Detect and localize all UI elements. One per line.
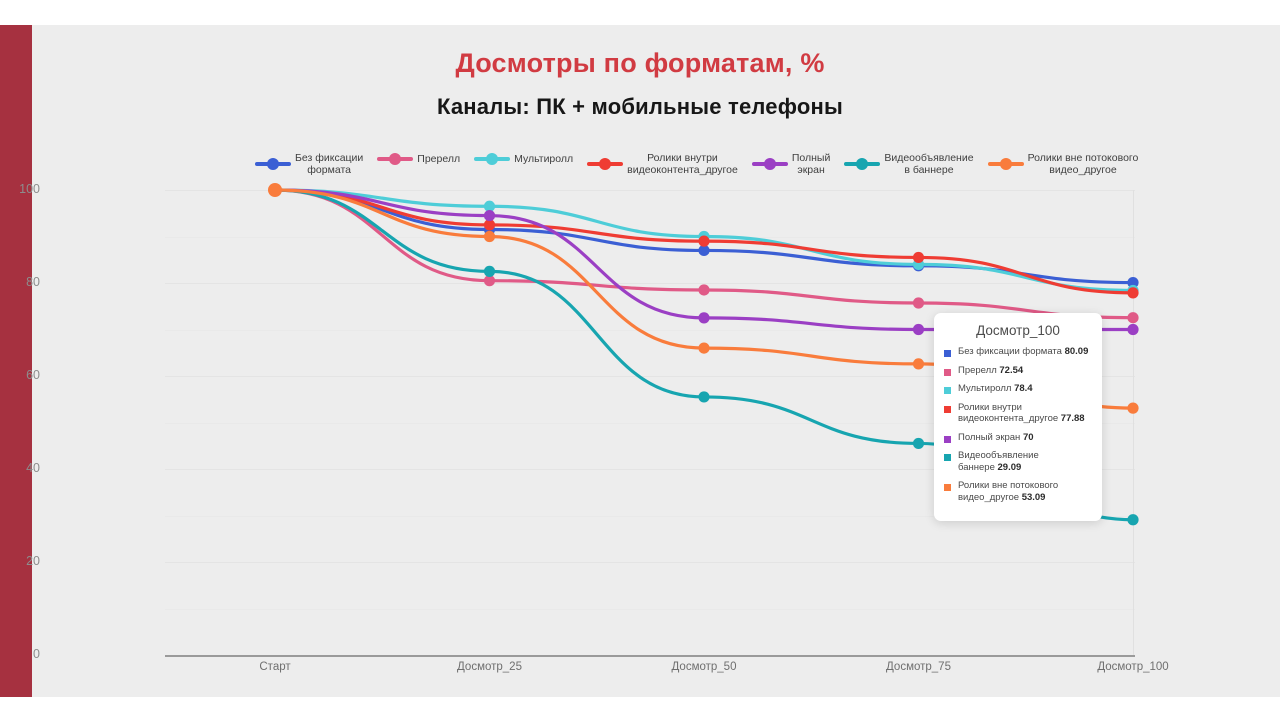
- tooltip-row-label: Мультиролл 78.4: [958, 383, 1033, 395]
- tooltip-row: Ролики вне потоковоговидео_другое 53.09: [944, 480, 1092, 503]
- tooltip-color-swatch-icon: [944, 369, 951, 376]
- series-data-point[interactable]: [1127, 312, 1138, 323]
- tooltip-row-value: 80.09: [1065, 346, 1089, 357]
- tooltip-color-swatch-icon: [944, 484, 951, 491]
- tooltip-color-swatch-icon: [944, 454, 951, 461]
- series-data-point[interactable]: [1127, 287, 1138, 298]
- x-axis-tick-label: Старт: [175, 661, 375, 673]
- y-axis-tick-label: 60: [0, 368, 40, 382]
- tooltip-row-value: 29.09: [998, 462, 1022, 473]
- tooltip-color-swatch-icon: [944, 350, 951, 357]
- tooltip-color-swatch-icon: [944, 406, 951, 413]
- series-data-point[interactable]: [698, 236, 709, 247]
- x-axis-tick-label: Досмотр_50: [604, 661, 804, 673]
- tooltip-row-value: 78.4: [1014, 383, 1033, 394]
- series-data-point[interactable]: [1127, 514, 1138, 525]
- x-axis-tick-label: Досмотр_25: [390, 661, 590, 673]
- series-data-point[interactable]: [484, 231, 495, 242]
- tooltip-row: Мультиролл 78.4: [944, 383, 1092, 395]
- tooltip-row: Пререлл 72.54: [944, 365, 1092, 377]
- tooltip-row-value: 70: [1023, 432, 1034, 443]
- tooltip-row-label: Видеообъявлениебаннере 29.09: [958, 450, 1039, 473]
- y-axis-tick-label: 80: [0, 275, 40, 289]
- x-axis-tick-label: Досмотр_100: [1033, 661, 1233, 673]
- series-data-point[interactable]: [1127, 403, 1138, 414]
- series-data-point[interactable]: [913, 438, 924, 449]
- tooltip-row: Ролики внутривидеоконтента_другое 77.88: [944, 402, 1092, 425]
- y-axis-tick-label: 40: [0, 461, 40, 475]
- series-data-point[interactable]: [1127, 324, 1138, 335]
- tooltip-row-label: Без фиксации формата 80.09: [958, 346, 1088, 358]
- series-data-point[interactable]: [698, 284, 709, 295]
- tooltip-row-value: 53.09: [1022, 492, 1046, 503]
- tooltip-row-label: Ролики вне потоковоговидео_другое 53.09: [958, 480, 1058, 503]
- y-axis-tick-label: 0: [0, 647, 40, 661]
- x-axis-tick-label: Досмотр_75: [819, 661, 1019, 673]
- tooltip-title: Досмотр_100: [944, 323, 1092, 338]
- series-data-point[interactable]: [913, 297, 924, 308]
- series-data-point[interactable]: [698, 391, 709, 402]
- tooltip-row-label: Полный экран 70: [958, 432, 1034, 444]
- series-data-point[interactable]: [484, 210, 495, 221]
- tooltip-row-value: 72.54: [999, 365, 1023, 376]
- tooltip-row: Полный экран 70: [944, 432, 1092, 444]
- tooltip-row-label: Ролики внутривидеоконтента_другое 77.88: [958, 402, 1085, 425]
- series-data-point[interactable]: [913, 252, 924, 263]
- tooltip-row-label: Пререлл 72.54: [958, 365, 1023, 377]
- y-axis-tick-label: 100: [0, 182, 40, 196]
- tooltip-color-swatch-icon: [944, 387, 951, 394]
- series-data-point[interactable]: [268, 183, 282, 197]
- series-data-point[interactable]: [698, 312, 709, 323]
- tooltip-rows: Без фиксации формата 80.09Пререлл 72.54М…: [944, 346, 1092, 503]
- tooltip-row: Видеообъявлениебаннере 29.09: [944, 450, 1092, 473]
- series-data-point[interactable]: [698, 343, 709, 354]
- tooltip-color-swatch-icon: [944, 436, 951, 443]
- tooltip-row: Без фиксации формата 80.09: [944, 346, 1092, 358]
- y-axis-tick-label: 20: [0, 554, 40, 568]
- chart-tooltip: Досмотр_100 Без фиксации формата 80.09Пр…: [934, 313, 1102, 521]
- series-data-point[interactable]: [913, 358, 924, 369]
- series-data-point[interactable]: [484, 266, 495, 277]
- series-data-point[interactable]: [913, 324, 924, 335]
- tooltip-row-value: 77.88: [1061, 413, 1085, 424]
